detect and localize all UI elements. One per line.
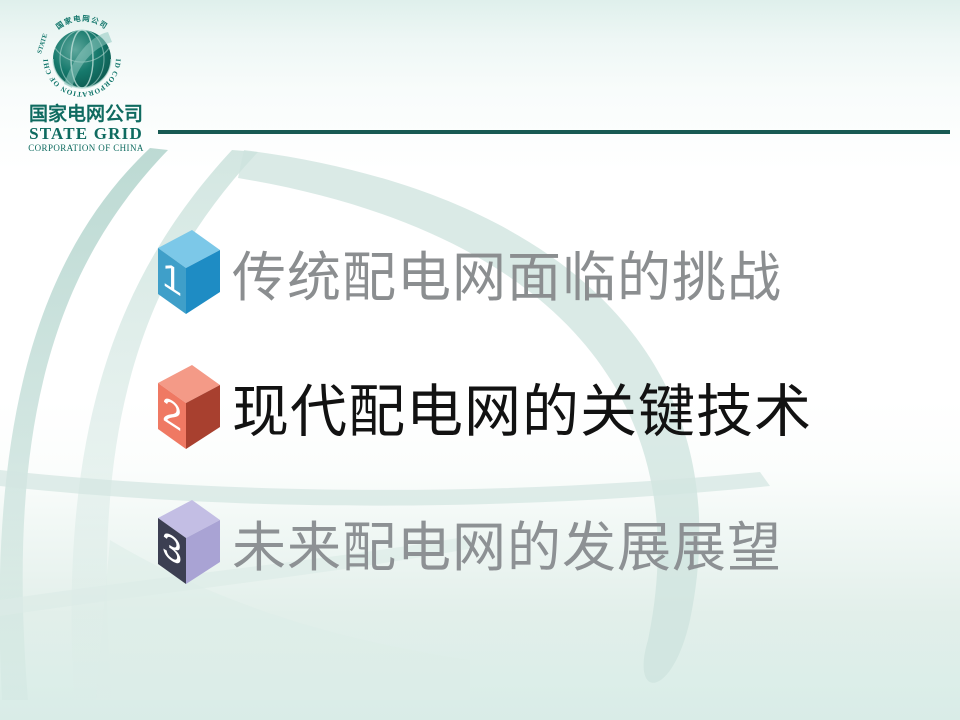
agenda-list: 1 传统配电网面临的挑战 2 现代配电网的关键技术 [0, 0, 960, 720]
agenda-label-2: 现代配电网的关键技术 [232, 366, 812, 448]
agenda-item-1[interactable]: 1 传统配电网面临的挑战 [148, 222, 782, 322]
number-cube-1-icon: 1 [148, 226, 224, 318]
presentation-slide: 国家电网公司 GRID CORPORATION OF CHINA STATE 国… [0, 0, 960, 720]
number-cube-3-icon: 3 [148, 496, 224, 588]
agenda-label-3: 未来配电网的发展展望 [232, 503, 782, 582]
number-cube-2-icon: 2 [148, 361, 224, 453]
agenda-label-1: 传统配电网面临的挑战 [232, 233, 782, 312]
agenda-item-2[interactable]: 2 现代配电网的关键技术 [148, 357, 812, 457]
agenda-item-3[interactable]: 3 未来配电网的发展展望 [148, 492, 782, 592]
